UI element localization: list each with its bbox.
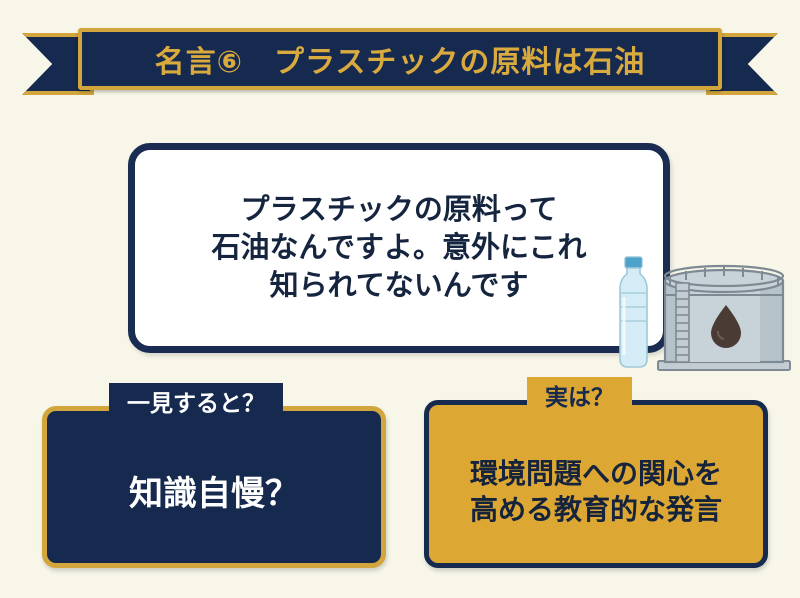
card-reality-body: 環境問題への関心を 高める教育的な発言 — [429, 405, 763, 563]
quote-line-1: プラスチックの原料って — [241, 191, 558, 229]
card-reality-tab: 実は？ — [527, 377, 632, 413]
card-appearance-body: 知識自慢？ — [47, 411, 381, 563]
page-title: 名言⑥ プラスチックの原料は石油 — [155, 37, 646, 81]
card-appearance: 一見すると？ 知識自慢？ — [42, 406, 386, 568]
illustration-group — [610, 255, 795, 375]
plastic-bottle-icon — [620, 257, 647, 367]
quote-box: プラスチックの原料って 石油なんですよ。意外にこれ 知られてないんです — [128, 143, 670, 353]
card-appearance-tab: 一見すると？ — [109, 383, 283, 419]
card-reality-line-2: 高める教育的な発言 — [470, 492, 722, 528]
ribbon-panel: 名言⑥ プラスチックの原料は石油 — [78, 28, 722, 90]
title-ribbon: 名言⑥ プラスチックの原料は石油 — [22, 28, 778, 100]
card-reality: 実は？ 環境問題への関心を 高める教育的な発言 — [424, 400, 768, 568]
card-appearance-tab-label: 一見すると？ — [127, 384, 265, 418]
quote-line-2: 石油なんですよ。意外にこれ — [212, 229, 587, 267]
slide-canvas: 名言⑥ プラスチックの原料は石油 プラスチックの原料って 石油なんですよ。意外に… — [0, 0, 800, 598]
card-appearance-line-1: 知識自慢？ — [129, 473, 299, 517]
card-reality-tab-label: 実は？ — [545, 378, 614, 412]
oil-storage-tank-icon — [658, 266, 790, 370]
card-reality-line-1: 環境問題への関心を — [470, 456, 722, 492]
quote-line-3: 知られてないんです — [270, 267, 529, 305]
